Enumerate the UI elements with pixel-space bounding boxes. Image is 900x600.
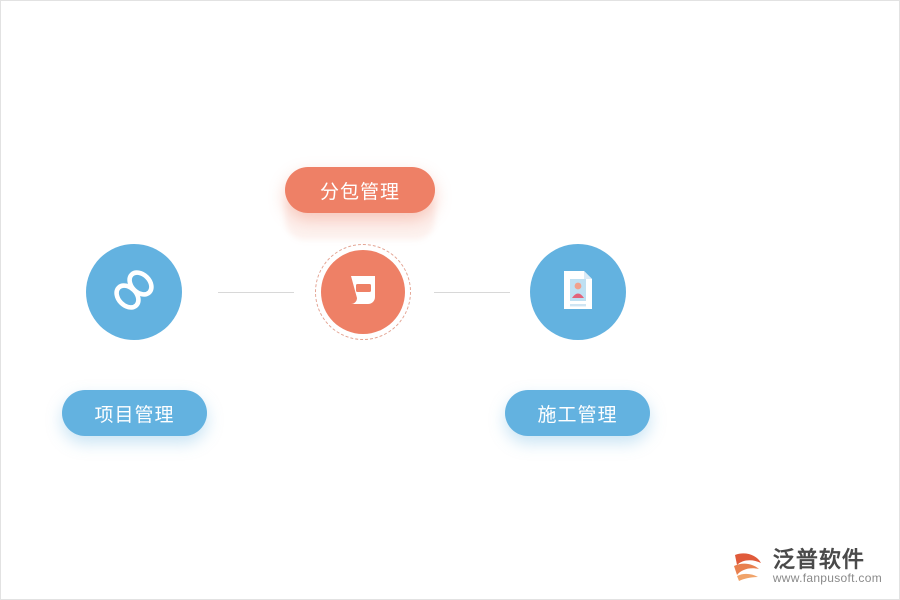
center-node-label[interactable]: 分包管理 xyxy=(285,167,435,213)
connector-right xyxy=(434,292,510,293)
watermark-url: www.fanpusoft.com xyxy=(773,572,882,586)
chain-link-icon xyxy=(106,262,162,323)
node-left-circle[interactable] xyxy=(86,244,182,340)
watermark-brand: 泛普软件 xyxy=(773,547,882,572)
node-right-circle[interactable] xyxy=(530,244,626,340)
scroll-document-icon xyxy=(340,267,386,318)
fanpu-logo-icon xyxy=(731,549,765,583)
id-card-icon xyxy=(552,264,604,321)
connector-left xyxy=(218,292,294,293)
node-left-label[interactable]: 项目管理 xyxy=(62,390,207,436)
center-node-circle[interactable] xyxy=(321,250,405,334)
diagram-canvas: 分包管理 xyxy=(0,0,900,600)
center-node-ring xyxy=(315,244,411,340)
watermark: 泛普软件 www.fanpusoft.com xyxy=(731,547,882,586)
node-right-label[interactable]: 施工管理 xyxy=(505,390,650,436)
